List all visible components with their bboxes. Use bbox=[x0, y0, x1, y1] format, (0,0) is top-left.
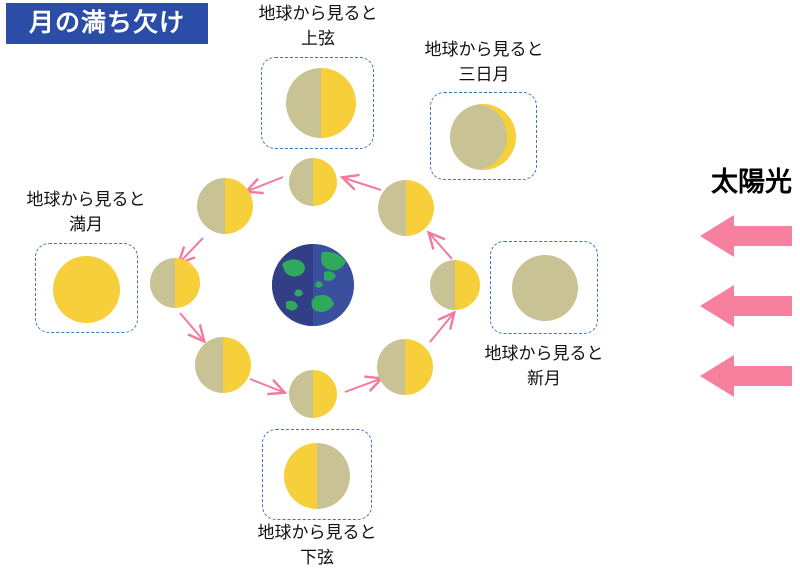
moon-dark-half bbox=[195, 337, 223, 393]
orbit-arrow-8 bbox=[430, 234, 452, 259]
orbit-moon-left bbox=[150, 258, 200, 308]
moon-first-quarter bbox=[286, 68, 356, 138]
callout-label-first-quarter: 地球から見ると 上弦 bbox=[238, 2, 398, 51]
callout-line1: 地球から見ると bbox=[464, 342, 624, 367]
moon-last-quarter bbox=[284, 443, 350, 509]
orbit-moon-bottom bbox=[289, 370, 337, 418]
moon-lit-half bbox=[313, 370, 337, 418]
callout-line2: 満月 bbox=[6, 213, 166, 238]
callout-line1: 地球から見ると bbox=[237, 521, 397, 546]
moon-lit-half bbox=[406, 180, 434, 236]
callout-line2: 下弦 bbox=[237, 546, 397, 571]
title-banner: 月の満ち欠け bbox=[6, 3, 208, 44]
callout-label-full-moon: 地球から見ると 満月 bbox=[6, 188, 166, 237]
orbit-moon-top-right bbox=[378, 180, 434, 236]
moon-shadow-disc bbox=[450, 104, 507, 170]
orbit-arrow-1 bbox=[344, 178, 381, 190]
moon-lit-half bbox=[284, 443, 317, 509]
moon-lit-half bbox=[225, 178, 253, 234]
sunlight-label: 太陽光 bbox=[711, 160, 792, 199]
page-title: 月の満ち欠け bbox=[29, 11, 185, 36]
moon-dark-half bbox=[317, 443, 350, 509]
moon-crescent bbox=[450, 104, 516, 170]
moon-new bbox=[512, 255, 578, 321]
sunlight-arrow-3 bbox=[700, 353, 792, 399]
moon-dark-half bbox=[197, 178, 225, 234]
moon-dark-half bbox=[378, 180, 406, 236]
callout-line2: 三日月 bbox=[404, 63, 564, 88]
moon-dark-half bbox=[289, 158, 313, 206]
callout-line1: 地球から見ると bbox=[6, 188, 166, 213]
earth-globe bbox=[272, 244, 354, 326]
sunlight-arrow-1 bbox=[700, 213, 792, 259]
orbit-moon-top-left bbox=[197, 178, 253, 234]
callout-line2: 新月 bbox=[464, 367, 624, 392]
callout-line1: 地球から見ると bbox=[404, 38, 564, 63]
callout-label-last-quarter: 地球から見ると 下弦 bbox=[237, 521, 397, 570]
callout-label-crescent: 地球から見ると 三日月 bbox=[404, 38, 564, 87]
callout-line2: 上弦 bbox=[238, 27, 398, 52]
moon-dark-half bbox=[150, 258, 175, 308]
sunlight-arrow-2 bbox=[700, 283, 792, 329]
moon-full bbox=[53, 256, 120, 323]
orbit-moon-right bbox=[430, 260, 480, 310]
orbit-moon-top bbox=[289, 158, 337, 206]
moon-lit-half bbox=[313, 158, 337, 206]
orbit-moon-bottom-right bbox=[377, 339, 433, 395]
moon-lit-half bbox=[223, 337, 251, 393]
moon-lit-half bbox=[455, 260, 480, 310]
orbit-arrow-2 bbox=[248, 177, 283, 191]
moon-dark-half bbox=[377, 339, 405, 395]
orbit-arrow-4 bbox=[180, 313, 203, 340]
moon-lit-half bbox=[321, 68, 356, 138]
moon-dark-half bbox=[430, 260, 455, 310]
orbit-arrow-6 bbox=[345, 379, 380, 392]
callout-label-new-moon: 地球から見ると 新月 bbox=[464, 342, 624, 391]
moon-dark-half bbox=[286, 68, 321, 138]
moon-dark-half bbox=[289, 370, 313, 418]
orbit-arrow-5 bbox=[250, 379, 283, 392]
moon-lit-half bbox=[405, 339, 433, 395]
orbit-moon-bottom-left bbox=[195, 337, 251, 393]
moon-lit-half bbox=[175, 258, 200, 308]
orbit-arrow-7 bbox=[430, 314, 453, 342]
callout-line1: 地球から見ると bbox=[238, 2, 398, 27]
